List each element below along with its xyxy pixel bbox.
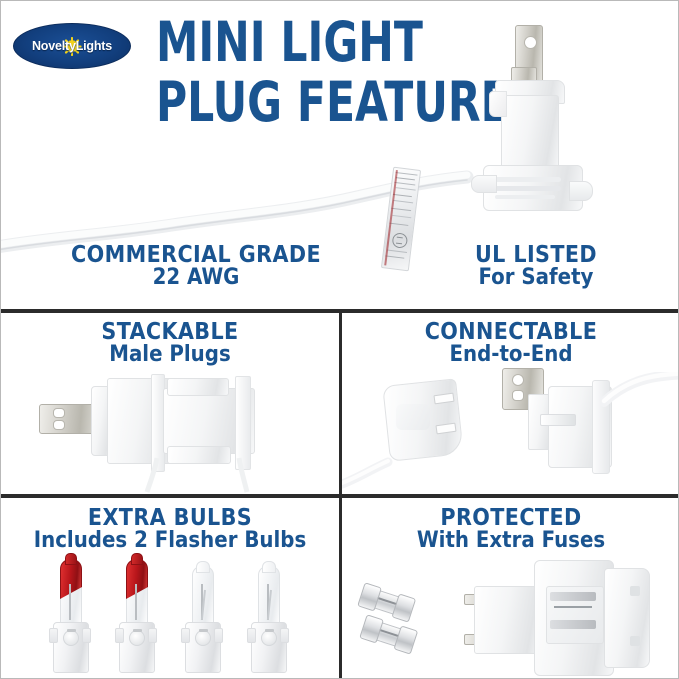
bulb-tip (196, 561, 210, 573)
female-socket-end (364, 378, 494, 484)
logo-text: NoveltyLights (13, 23, 131, 69)
prong-hole-1 (512, 374, 524, 386)
clear-mini-bulb (247, 566, 289, 671)
bulb-knob (195, 630, 211, 646)
prong-hole (524, 36, 537, 49)
page-title-line1: MINI LIGHT (156, 15, 423, 70)
red-tip-flasher-bulb (49, 566, 91, 671)
bulb-mark (199, 629, 208, 632)
bulb-knob (63, 630, 79, 646)
infographic-page: NoveltyLights MINI LIGHT PLUG FEATURES (0, 0, 679, 679)
prong-hole-2 (53, 420, 65, 430)
caption-line1: COMMERCIAL GRADE (21, 244, 371, 267)
panel-stackable: STACKABLE Male Plugs (1, 312, 339, 494)
caption-line2: End-to-End (342, 344, 679, 366)
prong-hole-1 (53, 408, 65, 418)
caption-line2: For Safety (401, 267, 671, 289)
bulb-wing-right (148, 628, 157, 643)
caption-line1: CONNECTABLE (342, 321, 679, 344)
internal-contact (554, 606, 592, 608)
bulb-knob (129, 630, 145, 646)
internal-fuse-2 (550, 620, 596, 629)
male-plug-end (492, 366, 679, 484)
caption-line1: EXTRA BULBS (1, 507, 339, 530)
base-left-tab (471, 175, 497, 193)
red-tip-flasher-bulb (115, 566, 157, 671)
clear-mini-bulb (181, 566, 223, 671)
bulb-wing-left (115, 628, 124, 643)
caption-line2: 22 AWG (21, 267, 371, 289)
bulb-wing-right (280, 628, 289, 643)
bulb-row (49, 566, 299, 676)
bulb-mark (265, 629, 274, 632)
bulb-wing-right (82, 628, 91, 643)
caption-protected: PROTECTED With Extra Fuses (342, 507, 679, 553)
flange-notch-1 (630, 586, 640, 596)
novelty-lights-logo: NoveltyLights (13, 23, 131, 69)
fused-plug-body (454, 558, 664, 676)
panel-top-overview: NoveltyLights MINI LIGHT PLUG FEATURES (1, 1, 679, 309)
bulb-knob (261, 630, 277, 646)
caption-commercial-grade: COMMERCIAL GRADE 22 AWG (21, 244, 371, 290)
caption-line1: PROTECTED (342, 507, 679, 530)
bulb-wing-left (181, 628, 190, 643)
plug-slot-face (540, 414, 576, 426)
bulb-mark (67, 629, 76, 632)
flange-notch-2 (630, 636, 640, 646)
glass-cartridge-fuse (360, 614, 418, 653)
stacked-male-plugs (39, 374, 289, 484)
white-mini-light-plug (471, 25, 591, 240)
caption-line2: Includes 2 Flasher Bulbs (1, 530, 339, 552)
internal-fuse-1 (550, 592, 596, 601)
plug-left-wing (489, 91, 507, 117)
panel-protected-fuses: PROTECTED With Extra Fuses (342, 498, 679, 679)
prong-hole-2 (512, 390, 524, 401)
panel-connectable: CONNECTABLE End-to-End (342, 312, 679, 494)
caption-stackable: STACKABLE Male Plugs (1, 321, 339, 367)
base-right-tab (569, 181, 593, 201)
bulb-red-tip (131, 553, 143, 565)
plug-back-flange (604, 568, 650, 668)
bulb-red-tip (65, 553, 77, 565)
caption-connectable: CONNECTABLE End-to-End (342, 321, 679, 367)
caption-ul-listed: UL LISTED For Safety (401, 244, 671, 290)
bulb-tip (262, 561, 276, 573)
bulb-filament (135, 584, 137, 620)
base-groove-3 (495, 195, 555, 199)
socket-shadow (396, 404, 430, 430)
bulb-wing-left (49, 628, 58, 643)
caption-line1: UL LISTED (401, 244, 671, 267)
bulb-filament (69, 584, 71, 620)
caption-extra-bulbs: EXTRA BULBS Includes 2 Flasher Bulbs (1, 507, 339, 553)
base-groove-2 (495, 186, 561, 191)
bulb-mark (133, 629, 142, 632)
caption-line2: With Extra Fuses (342, 530, 679, 552)
panel-extra-bulbs: EXTRA BULBS Includes 2 Flasher Bulbs (1, 498, 339, 679)
base-groove-1 (495, 177, 561, 182)
bulb-wing-right (214, 628, 223, 643)
bulb-wing-left (247, 628, 256, 643)
caption-line2: Male Plugs (1, 344, 339, 366)
plug-2-top-rail (167, 378, 229, 396)
caption-line1: STACKABLE (1, 321, 339, 344)
